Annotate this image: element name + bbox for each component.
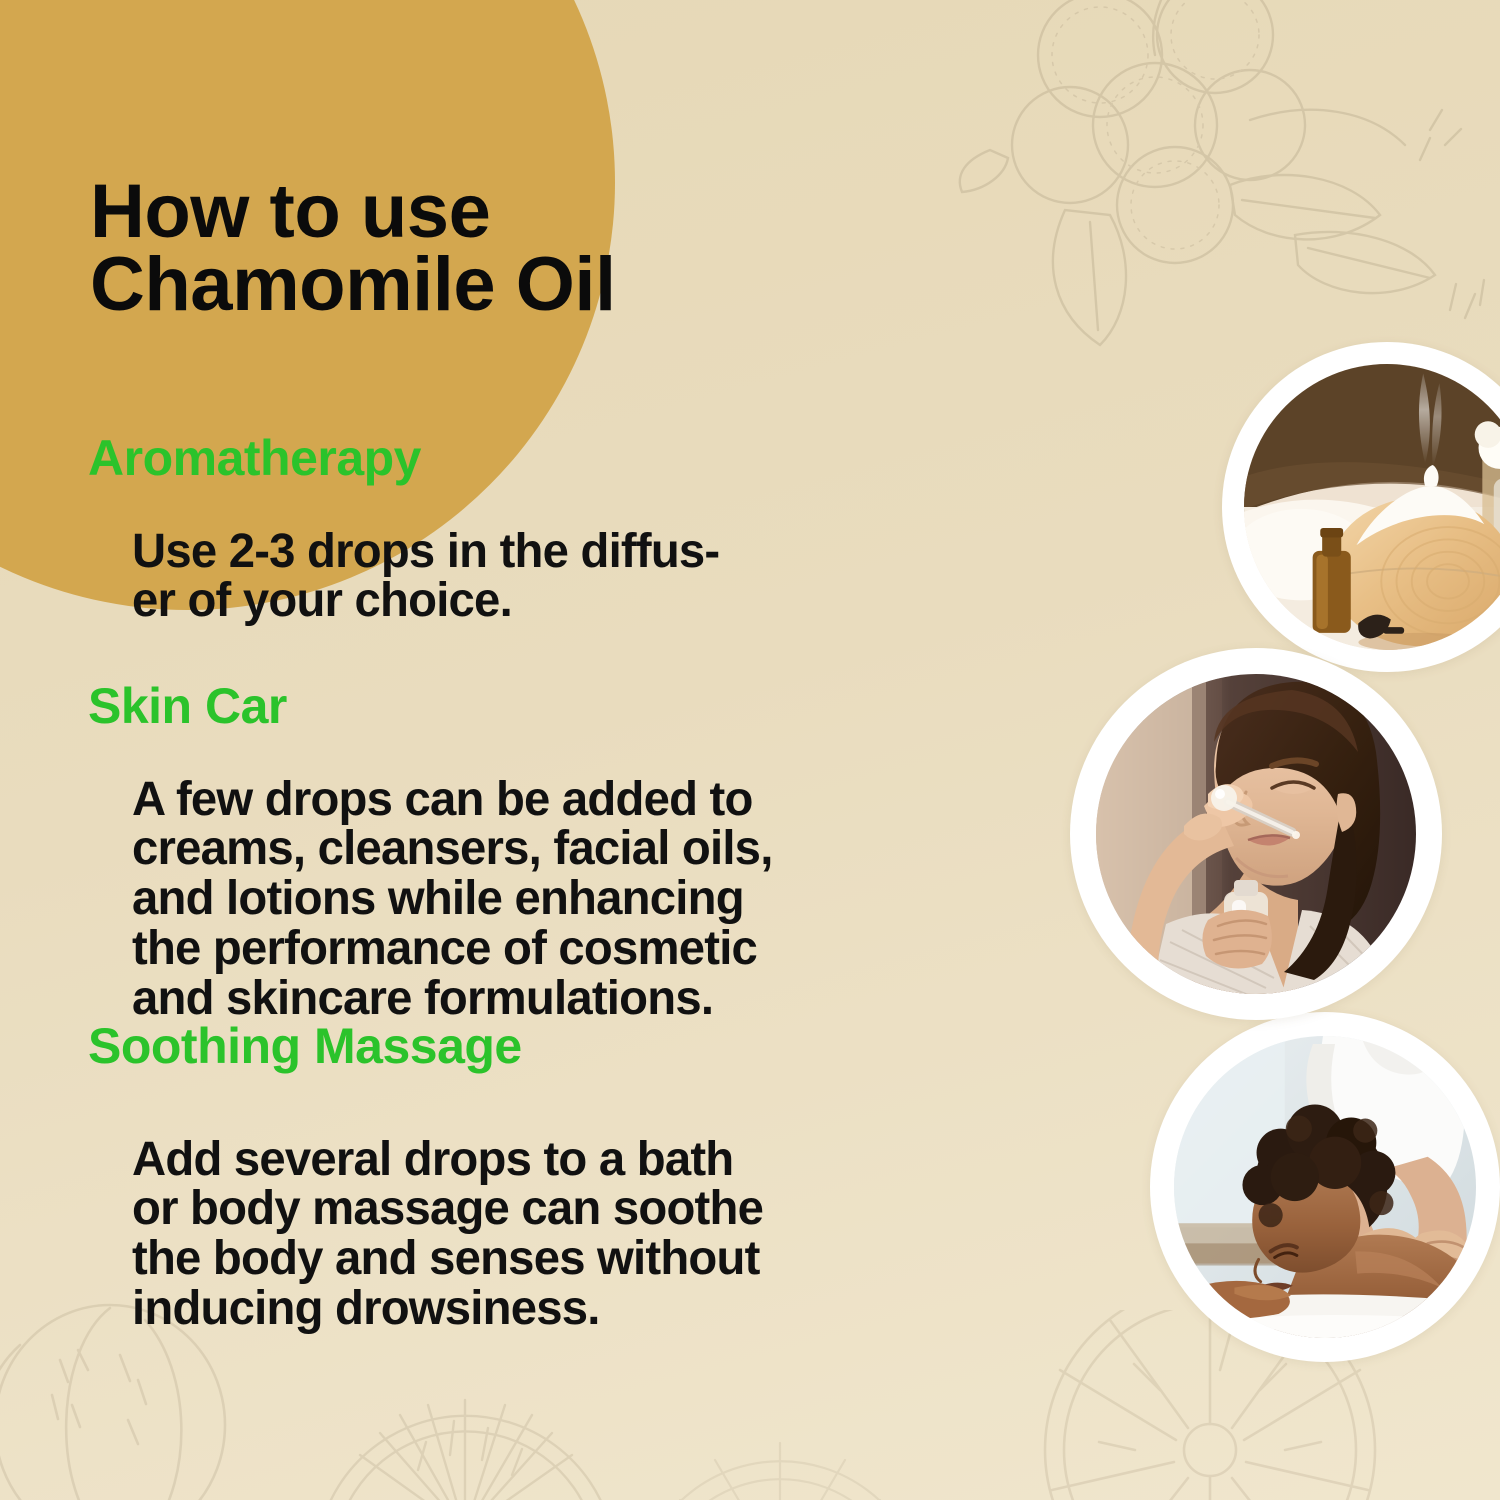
photo-massage-image <box>1174 1036 1476 1338</box>
section-aromatherapy: Aromatherapy Use 2-3 drops in the diffus… <box>0 432 1010 626</box>
photo-circle-skincare <box>1070 648 1442 1020</box>
photo-circle-massage <box>1150 1012 1500 1362</box>
section-heading-soothing-massage: Soothing Massage <box>88 1020 1010 1073</box>
botanical-fruit-branch-icon <box>950 0 1500 400</box>
page-title: How to use Chamomile Oil <box>90 176 616 322</box>
section-body-skin-care: A few drops can be added to creams, clea… <box>132 775 979 1025</box>
section-heading-aromatherapy: Aromatherapy <box>88 432 1010 485</box>
content-column: How to use Chamomile Oil Aromatherapy Us… <box>0 0 1010 1500</box>
photo-skincare-image <box>1096 674 1416 994</box>
photo-circle-diffuser <box>1222 342 1500 672</box>
photo-diffuser-image <box>1244 364 1500 650</box>
section-body-aromatherapy: Use 2-3 drops in the diffus- er of your … <box>132 527 979 627</box>
poster-canvas: How to use Chamomile Oil Aromatherapy Us… <box>0 0 1500 1500</box>
section-skin-care: Skin Car A few drops can be added to cre… <box>0 680 1010 1024</box>
section-heading-skin-care: Skin Car <box>88 680 1010 733</box>
section-body-soothing-massage: Add several drops to a bath or body mass… <box>132 1135 979 1335</box>
section-soothing-massage: Soothing Massage Add several drops to a … <box>0 1020 1010 1334</box>
